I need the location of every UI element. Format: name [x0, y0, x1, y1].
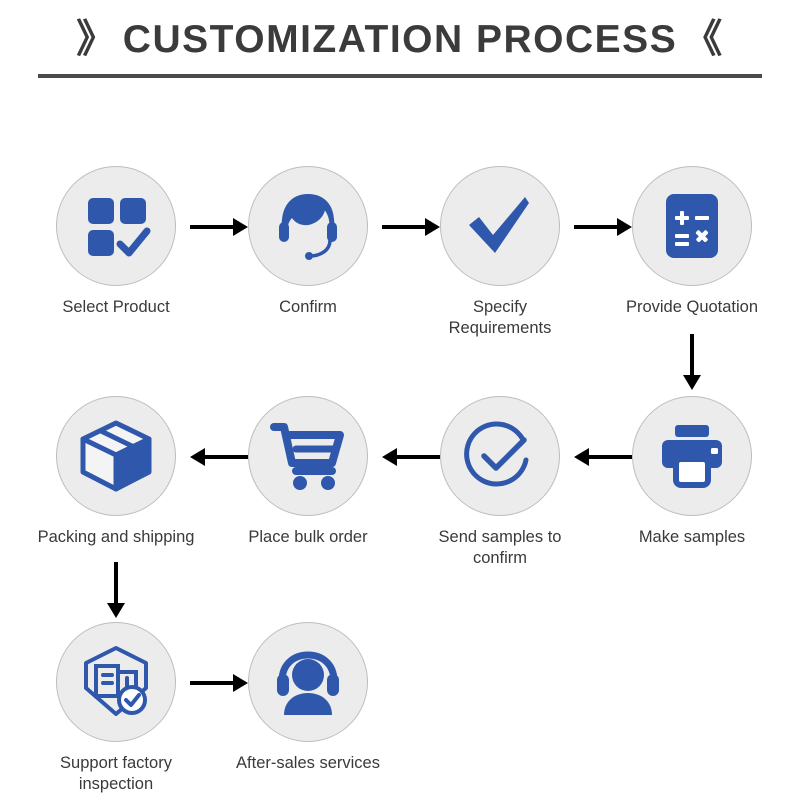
- step-label: Specify Requirements: [420, 297, 580, 338]
- process-step-make-samples[interactable]: Make samples: [612, 396, 772, 548]
- process-step-send-samples-to-confirm[interactable]: Send samples to confirm: [420, 396, 580, 568]
- connector-arrow-7-to-8: [190, 446, 248, 468]
- title-chevron-left-icon: 》: [76, 20, 117, 59]
- calculator-icon: [658, 190, 726, 262]
- step-icon-circle: [56, 622, 176, 742]
- package-box-icon: [77, 417, 155, 495]
- step-label: Place bulk order: [228, 527, 388, 548]
- page-header: 》 CUSTOMIZATION PROCESS 《: [0, 0, 800, 90]
- arrow-shaft: [690, 334, 694, 375]
- checkmark-icon: [463, 189, 537, 263]
- step-label: Confirm: [228, 297, 388, 318]
- arrow-shaft: [382, 225, 425, 229]
- arrow-shaft: [205, 455, 248, 459]
- step-label: Send samples to confirm: [420, 527, 580, 568]
- page-title: CUSTOMIZATION PROCESS: [123, 20, 677, 59]
- process-step-confirm[interactable]: Confirm: [228, 166, 388, 318]
- arrow-shaft: [190, 225, 233, 229]
- arrow-shaft: [574, 225, 617, 229]
- headset-operator-icon: [270, 188, 346, 264]
- connector-arrow-6-to-7: [382, 446, 440, 468]
- arrow-shaft: [397, 455, 440, 459]
- shopping-cart-icon: [270, 421, 346, 491]
- step-icon-circle: [632, 396, 752, 516]
- printer-icon: [656, 423, 728, 489]
- step-icon-circle: [248, 396, 368, 516]
- process-step-select-product[interactable]: Select Product: [36, 166, 196, 318]
- arrow-head: [683, 375, 701, 390]
- step-label: Provide Quotation: [612, 297, 772, 318]
- process-step-after-sales-services[interactable]: After-sales services: [228, 622, 388, 774]
- process-step-support-factory-inspection[interactable]: Support factory inspection: [36, 622, 196, 794]
- step-icon-circle: [248, 166, 368, 286]
- process-step-provide-quotation[interactable]: Provide Quotation: [612, 166, 772, 318]
- connector-arrow-8-to-9: [105, 562, 127, 618]
- process-step-place-bulk-order[interactable]: Place bulk order: [228, 396, 388, 548]
- step-label: After-sales services: [228, 753, 388, 774]
- title-divider: [38, 74, 762, 78]
- arrow-shaft: [190, 681, 233, 685]
- circle-check-icon: [462, 418, 538, 494]
- step-icon-circle: [248, 622, 368, 742]
- step-label: Select Product: [36, 297, 196, 318]
- title-row: 》 CUSTOMIZATION PROCESS 《: [0, 8, 800, 70]
- step-icon-circle: [56, 166, 176, 286]
- step-label: Packing and shipping: [36, 527, 196, 548]
- arrow-shaft: [589, 455, 632, 459]
- step-icon-circle: [440, 396, 560, 516]
- step-icon-circle: [440, 166, 560, 286]
- connector-arrow-5-to-6: [574, 446, 632, 468]
- arrow-shaft: [114, 562, 118, 603]
- process-step-packing-and-shipping[interactable]: Packing and shipping: [36, 396, 196, 548]
- factory-inspection-shield-icon: [78, 644, 154, 720]
- title-chevron-right-icon: 《: [683, 20, 724, 59]
- support-agent-icon: [270, 647, 346, 717]
- process-step-specify-requirements[interactable]: Specify Requirements: [420, 166, 580, 338]
- arrow-head: [107, 603, 125, 618]
- step-label: Make samples: [612, 527, 772, 548]
- step-icon-circle: [56, 396, 176, 516]
- step-icon-circle: [632, 166, 752, 286]
- grid-select-icon: [80, 190, 152, 262]
- connector-arrow-4-to-5: [681, 334, 703, 390]
- step-label: Support factory inspection: [36, 753, 196, 794]
